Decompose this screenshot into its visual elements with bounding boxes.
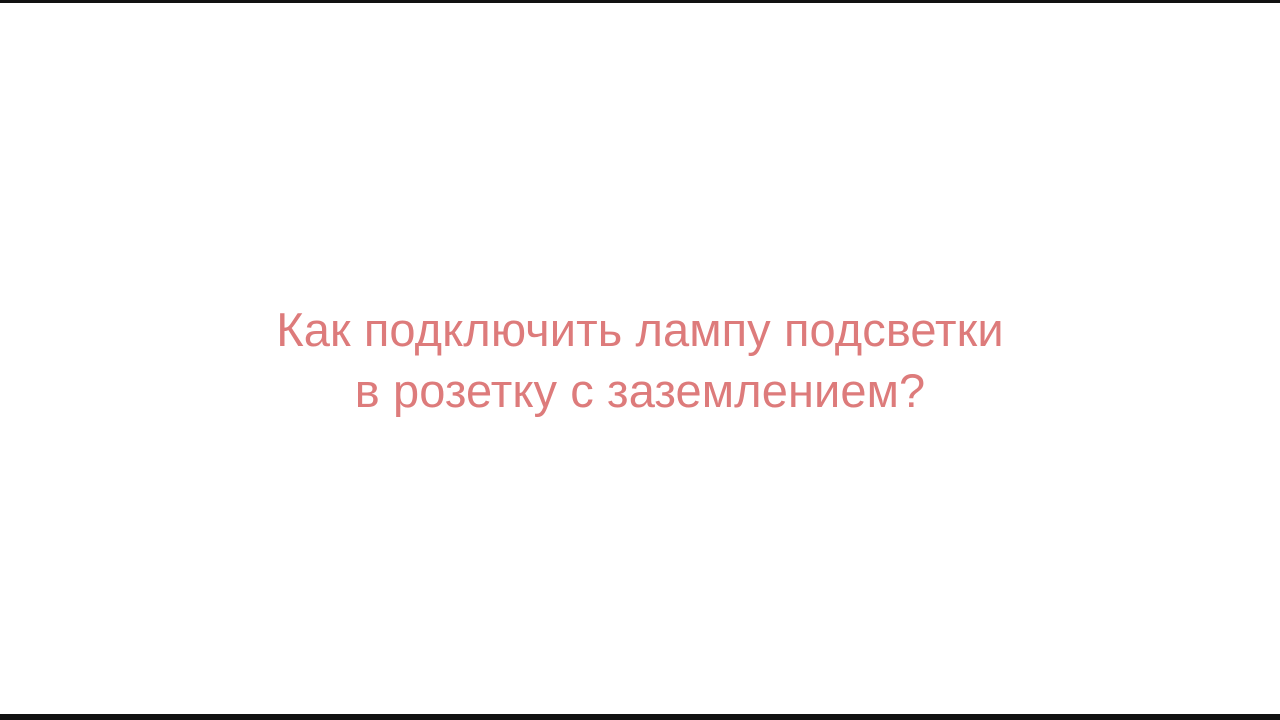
title-block: Как подключить лампу подсветки в розетку… — [0, 0, 1280, 720]
title-line-1: Как подключить лампу подсветки — [276, 299, 1003, 360]
letterbox-bar-bottom — [0, 714, 1280, 720]
video-title-card-screen: Как подключить лампу подсветки в розетку… — [0, 0, 1280, 720]
title-line-2: в розетку с заземлением? — [355, 360, 926, 421]
